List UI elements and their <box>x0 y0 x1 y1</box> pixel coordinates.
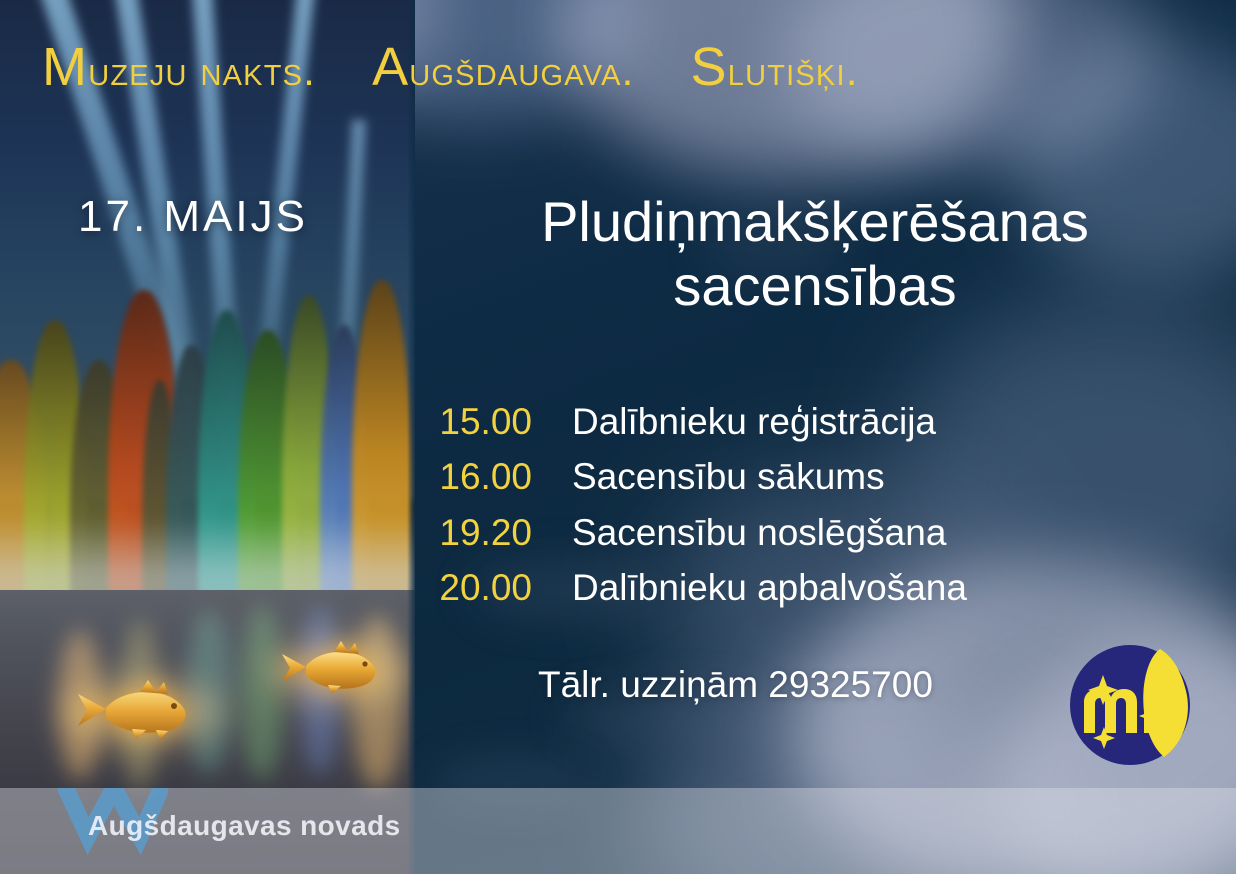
title-word-1: Muzeju nakts. <box>42 36 316 98</box>
title-word-2: Augšdaugava. <box>372 36 634 98</box>
schedule-label: Dalībnieku reģistrācija <box>572 398 936 445</box>
title-word-rest: uzeju nakts. <box>88 47 316 94</box>
schedule-row: 15.00 Dalībnieku reģistrācija <box>430 398 1190 445</box>
poster-canvas: Muzeju nakts. Augšdaugava. Slutišķi. 17.… <box>0 0 1236 874</box>
title-word-rest: lutišķi. <box>728 47 859 94</box>
event-headline: Pludiņmakšķerēšanas sacensības <box>430 190 1200 319</box>
footer-bar: Augšdaugavas novads <box>0 788 1236 874</box>
schedule-row: 19.20 Sacensību noslēgšana <box>430 509 1190 556</box>
schedule-row: 20.00 Dalībnieku apbalvošana <box>430 564 1190 611</box>
event-schedule: 15.00 Dalībnieku reģistrācija 16.00 Sace… <box>430 398 1190 619</box>
golden-fish-sculpture-left <box>70 678 210 740</box>
title-word-rest: ugšdaugava. <box>409 47 634 94</box>
title-cap-letter: M <box>42 37 88 97</box>
schedule-label: Sacensību noslēgšana <box>572 509 946 556</box>
muzeju-nakts-logo <box>1064 639 1196 771</box>
schedule-time: 16.00 <box>430 453 572 500</box>
contact-phone: Tālr. uzziņām 29325700 <box>538 664 933 706</box>
schedule-row: 16.00 Sacensību sākums <box>430 453 1190 500</box>
photo-edge-fade <box>407 0 415 874</box>
golden-fish-sculpture-right <box>276 640 396 694</box>
event-date: 17. MAIJS <box>78 192 308 242</box>
schedule-time: 19.20 <box>430 509 572 556</box>
title-cap-letter: S <box>691 37 728 97</box>
title-cap-letter: A <box>372 37 409 97</box>
headline-line-1: Pludiņmakšķerēšanas <box>541 190 1089 253</box>
night-forest-photo <box>0 0 415 874</box>
poster-title: Muzeju nakts. Augšdaugava. Slutišķi. <box>42 36 1202 98</box>
title-word-3: Slutišķi. <box>691 36 859 98</box>
schedule-time: 15.00 <box>430 398 572 445</box>
headline-line-2: sacensības <box>430 254 1200 318</box>
schedule-time: 20.00 <box>430 564 572 611</box>
schedule-label: Dalībnieku apbalvošana <box>572 564 967 611</box>
footer-label: Augšdaugavas novads <box>88 810 401 842</box>
schedule-label: Sacensību sākums <box>572 453 885 500</box>
